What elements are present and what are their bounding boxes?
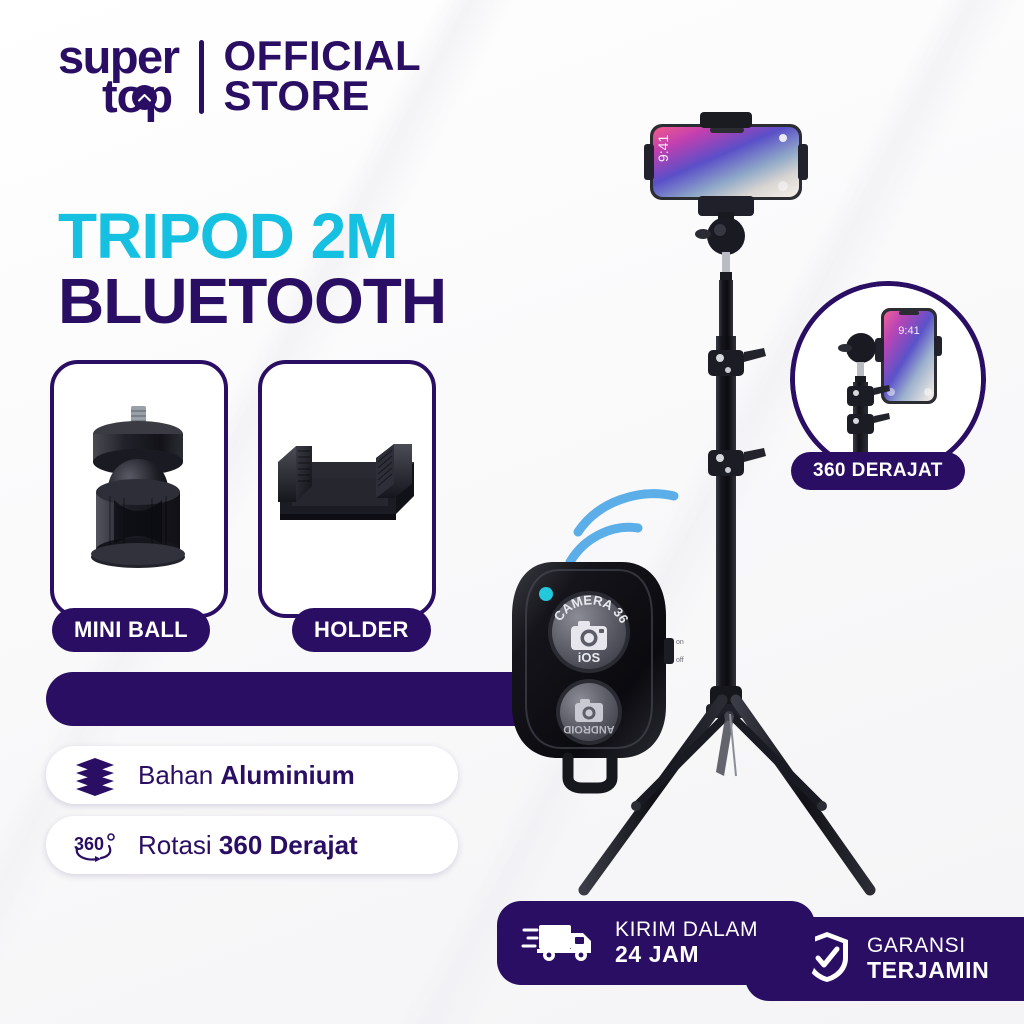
title-line-1: TRIPOD 2M: [58, 206, 446, 267]
badge-kirim-text: KIRIM DALAM 24 JAM: [615, 918, 758, 967]
feature-1-plain: Rotasi: [138, 830, 219, 860]
svg-text:off: off: [676, 657, 684, 664]
remote-power-switch: on off: [664, 638, 684, 664]
logo-divider: [199, 40, 204, 114]
mini-ball-head-photo: [74, 404, 204, 574]
remot-bluetooth-bar: [46, 672, 551, 726]
thumbnail-card-holder[interactable]: [258, 360, 436, 618]
badge-garansi-text: GARANSI TERJAMIN: [867, 934, 989, 983]
feature-1-bold: 360 Derajat: [219, 830, 358, 860]
official-store-text: OFFICIAL STORE: [224, 36, 422, 117]
tripod-mid-pole: [716, 336, 736, 696]
supertop-wordmark: super top: [58, 37, 179, 116]
official-line-2: STORE: [224, 76, 422, 116]
feature-pill-rotation[interactable]: 360 Rotasi 360 Derajat: [46, 816, 458, 874]
remote-android-button: ANDROID: [556, 679, 622, 745]
badge-garansi-line2: TERJAMIN: [867, 958, 989, 984]
thumbnail-card-mini-ball[interactable]: [50, 360, 228, 618]
ball-head-mount: [695, 212, 745, 282]
svg-text:360: 360: [74, 834, 104, 854]
page-title: TRIPOD 2M BLUETOOTH: [58, 206, 446, 333]
brand-logo: super top OFFICIAL STORE: [58, 36, 421, 117]
product-listing-canvas: super top OFFICIAL STORE TRIPOD 2M BLUET…: [0, 0, 1024, 1024]
badge-kirim-line1: KIRIM DALAM: [615, 918, 758, 942]
thumbnail-label-holder: HOLDER: [292, 608, 431, 652]
feature-0-bold: Aluminium: [220, 760, 354, 790]
feature-text-material: Bahan Aluminium: [138, 760, 355, 791]
inset-360-circle[interactable]: 9:41: [790, 281, 986, 477]
svg-text:9:41: 9:41: [898, 325, 919, 337]
remote-led-indicator: [539, 587, 553, 601]
svg-text:iOS: iOS: [578, 650, 601, 665]
inset-360-label: 360 DERAJAT: [791, 452, 965, 490]
tripod-head-with-phone-portrait-photo: 9:41: [795, 286, 981, 472]
rotate-360-icon: 360: [72, 825, 118, 865]
layers-stack-icon: [72, 755, 118, 795]
badge-kirim[interactable]: KIRIM DALAM 24 JAM: [497, 901, 815, 985]
mounted-phone-landscape: 9:41: [644, 112, 808, 216]
official-line-1: OFFICIAL: [224, 36, 422, 76]
svg-text:on: on: [676, 639, 684, 646]
tripod-lock-clamp-upper: [708, 348, 766, 376]
title-line-2: BLUETOOTH: [58, 271, 446, 332]
bluetooth-camera-shutter-remote: on off CAMERA 360 iOS: [488, 470, 718, 790]
svg-text:ANDROID: ANDROID: [563, 723, 614, 735]
feature-text-rotation: Rotasi 360 Derajat: [138, 830, 358, 861]
badge-kirim-line2: 24 JAM: [615, 942, 758, 968]
badge-garansi-line1: GARANSI: [867, 934, 989, 958]
thumbnail-label-mini-ball: MINI BALL: [52, 608, 210, 652]
logo-top-text: top: [102, 76, 179, 115]
feature-0-plain: Bahan: [138, 760, 220, 790]
delivery-truck-icon: [523, 917, 597, 970]
phone-clock-text: 9:41: [655, 135, 671, 162]
remote-lanyard-loop: [568, 758, 612, 788]
feature-pill-material[interactable]: Bahan Aluminium: [46, 746, 458, 804]
phone-holder-clamp-photo: [272, 434, 422, 544]
